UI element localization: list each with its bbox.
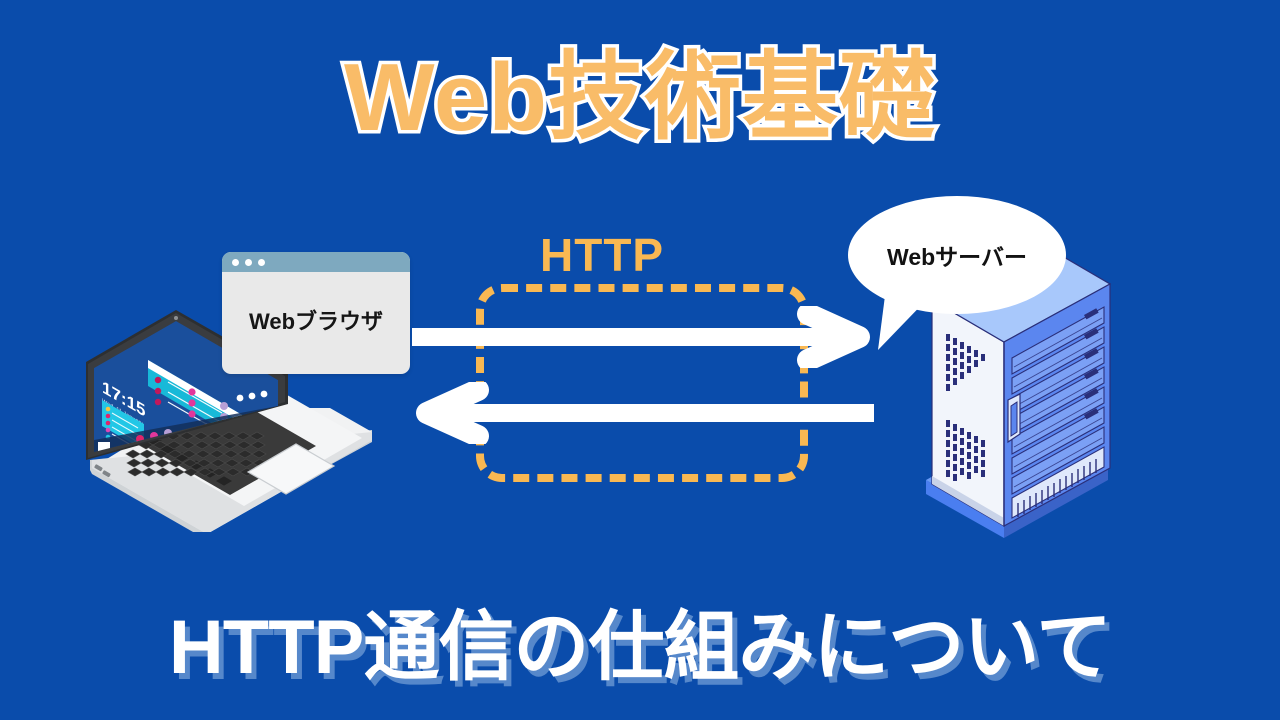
slide-root: Web技術基礎 xyxy=(0,0,1280,720)
browser-label: Webブラウザ xyxy=(249,304,383,336)
browser-titlebar xyxy=(222,252,410,272)
window-dot-minimize-icon xyxy=(245,259,252,266)
response-arrow xyxy=(412,382,874,444)
browser-body: Webブラウザ xyxy=(222,272,410,374)
window-dot-close-icon xyxy=(232,259,239,266)
server-label: Webサーバー xyxy=(887,238,1027,272)
page-subtitle: HTTP通信の仕組みについて xyxy=(0,606,1280,690)
browser-window-card: Webブラウザ xyxy=(222,252,410,374)
protocol-label: HTTP xyxy=(540,228,664,282)
request-arrow xyxy=(412,306,874,368)
page-title: Web技術基礎 xyxy=(0,48,1280,149)
server-speech-bubble: Webサーバー xyxy=(848,196,1066,314)
window-dot-maximize-icon xyxy=(258,259,265,266)
